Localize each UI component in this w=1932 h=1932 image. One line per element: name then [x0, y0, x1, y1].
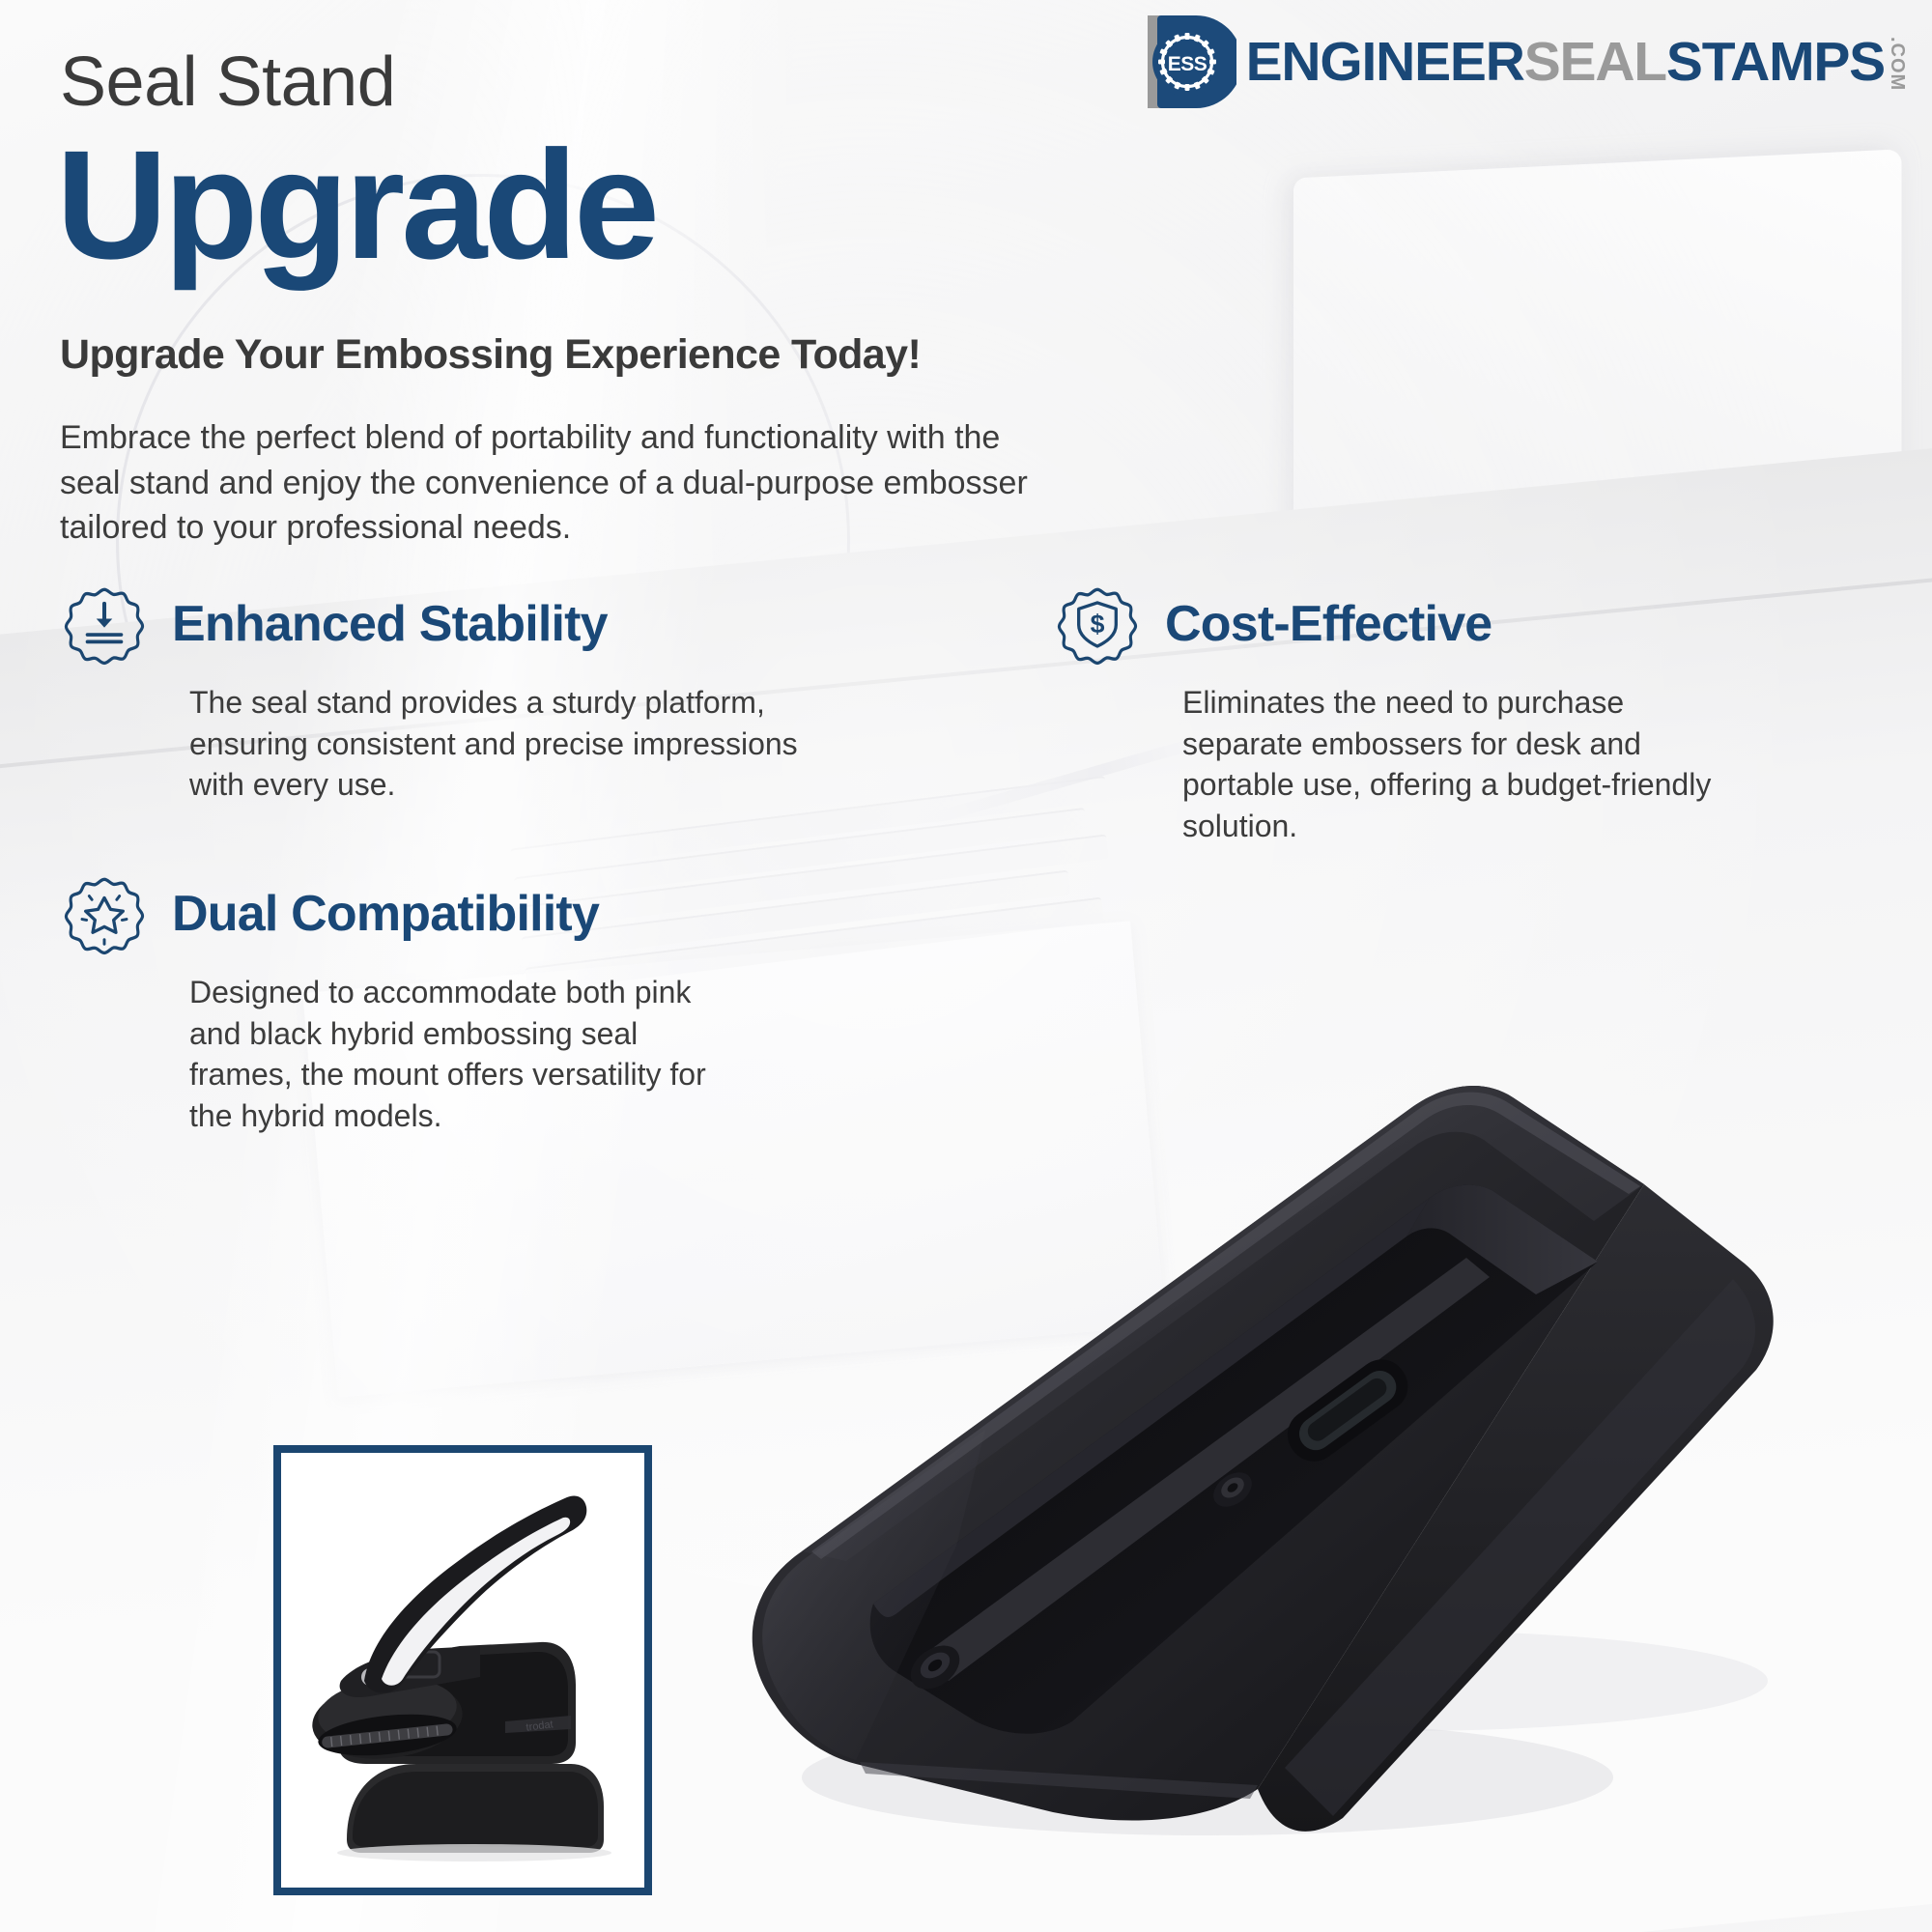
feature-cost-effective: $ Cost-Effective Eliminates the need to … — [1053, 580, 1723, 846]
black-seal-stand-illustration — [667, 1005, 1922, 1932]
feature-body: Designed to accommodate both pink and bl… — [189, 972, 711, 1136]
shield-dollar-icon: $ — [1053, 580, 1142, 668]
feature-title: Enhanced Stability — [172, 595, 608, 653]
ess-shield-icon: ESS — [1132, 10, 1236, 114]
headline-kicker: Seal Stand — [60, 43, 395, 122]
headline-subtitle: Upgrade Your Embossing Experience Today! — [60, 331, 921, 379]
feature-body: Eliminates the need to purchase separate… — [1182, 682, 1723, 846]
feature-enhanced-stability: Enhanced Stability The seal stand provid… — [60, 580, 856, 806]
feature-title: Dual Compatibility — [172, 885, 599, 943]
ess-monogram-text: ESS — [1167, 53, 1207, 75]
headline-main: Upgrade — [56, 128, 656, 282]
hero-product-photo — [667, 1005, 1922, 1932]
brand-logo[interactable]: ESS ENGINEERSEALSTAMPS.COM — [1132, 10, 1907, 114]
press-down-icon — [60, 580, 149, 668]
inset-product-photo: trodat — [273, 1445, 652, 1895]
sparkle-star-icon — [60, 869, 149, 958]
brand-wordmark: ENGINEERSEALSTAMPS.COM — [1246, 33, 1907, 91]
wordmark-seal: SEAL — [1524, 35, 1666, 90]
feature-body: The seal stand provides a sturdy platfor… — [189, 682, 856, 806]
feature-title: Cost-Effective — [1165, 595, 1492, 653]
feature-dual-compatibility: Dual Compatibility Designed to accommoda… — [60, 869, 711, 1136]
infographic-page: ESS ENGINEERSEALSTAMPS.COM Seal Stand Up… — [0, 0, 1932, 1932]
svg-text:$: $ — [1091, 610, 1105, 639]
wordmark-tld: .COM — [1888, 37, 1907, 91]
headline-body: Embrace the perfect blend of portability… — [60, 415, 1045, 551]
handheld-embosser-on-stand-illustration: trodat — [281, 1453, 644, 1888]
wordmark-engineer: ENGINEER — [1246, 35, 1524, 90]
wordmark-stamps: STAMPS — [1666, 35, 1885, 90]
